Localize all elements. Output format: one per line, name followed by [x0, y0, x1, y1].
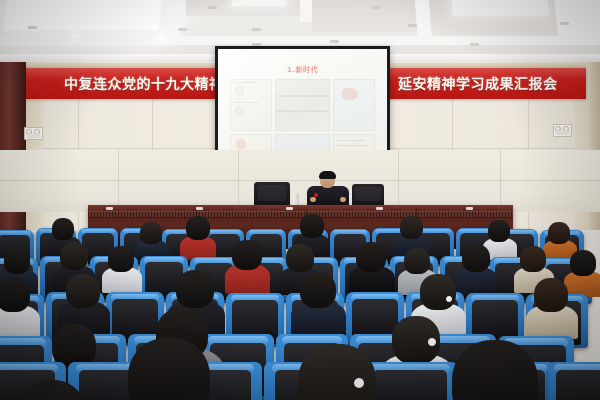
emergency-light-icon — [553, 124, 572, 137]
banner-text-left: 中复连众党的十九大精神 — [64, 74, 224, 94]
banner-text-right: 延安精神学习成果汇报会 — [398, 74, 558, 94]
audience-person — [488, 220, 510, 250]
audience-person — [356, 242, 386, 280]
audience-area — [0, 212, 600, 400]
audience-person — [452, 340, 538, 400]
audience-person — [60, 242, 88, 278]
audience-person — [0, 278, 30, 322]
audience-person — [462, 244, 490, 280]
audience-person — [66, 274, 100, 318]
audience-person — [140, 222, 162, 252]
audience-person — [186, 216, 210, 248]
name-card — [106, 207, 113, 210]
name-card — [466, 207, 473, 210]
auditorium-seat — [362, 362, 458, 400]
audience-person — [548, 222, 570, 252]
name-card — [376, 207, 383, 210]
audience-person — [534, 278, 568, 322]
audience-person — [128, 338, 210, 400]
name-card — [286, 207, 293, 210]
audience-person — [232, 240, 262, 278]
downlight-icon — [158, 36, 165, 39]
audience-person — [570, 250, 596, 284]
audience-person — [400, 216, 423, 246]
name-card — [196, 207, 203, 210]
downlight-icon — [72, 35, 79, 38]
audience-person — [298, 344, 376, 400]
audience-person — [16, 380, 86, 400]
emergency-light-icon — [24, 127, 43, 140]
audience-person — [108, 246, 134, 280]
stage-wall — [0, 150, 600, 212]
audience-person — [520, 246, 546, 280]
speaker-person — [307, 172, 349, 208]
audience-person — [4, 248, 30, 282]
audience-person — [300, 272, 336, 318]
audience-person — [420, 274, 456, 320]
audience-person — [300, 214, 324, 246]
conference-hall-scene: 中复连众党的十九大精神 延安精神学习成果汇报会 1.新时代 — [0, 0, 600, 400]
auditorium-seat — [548, 362, 600, 400]
